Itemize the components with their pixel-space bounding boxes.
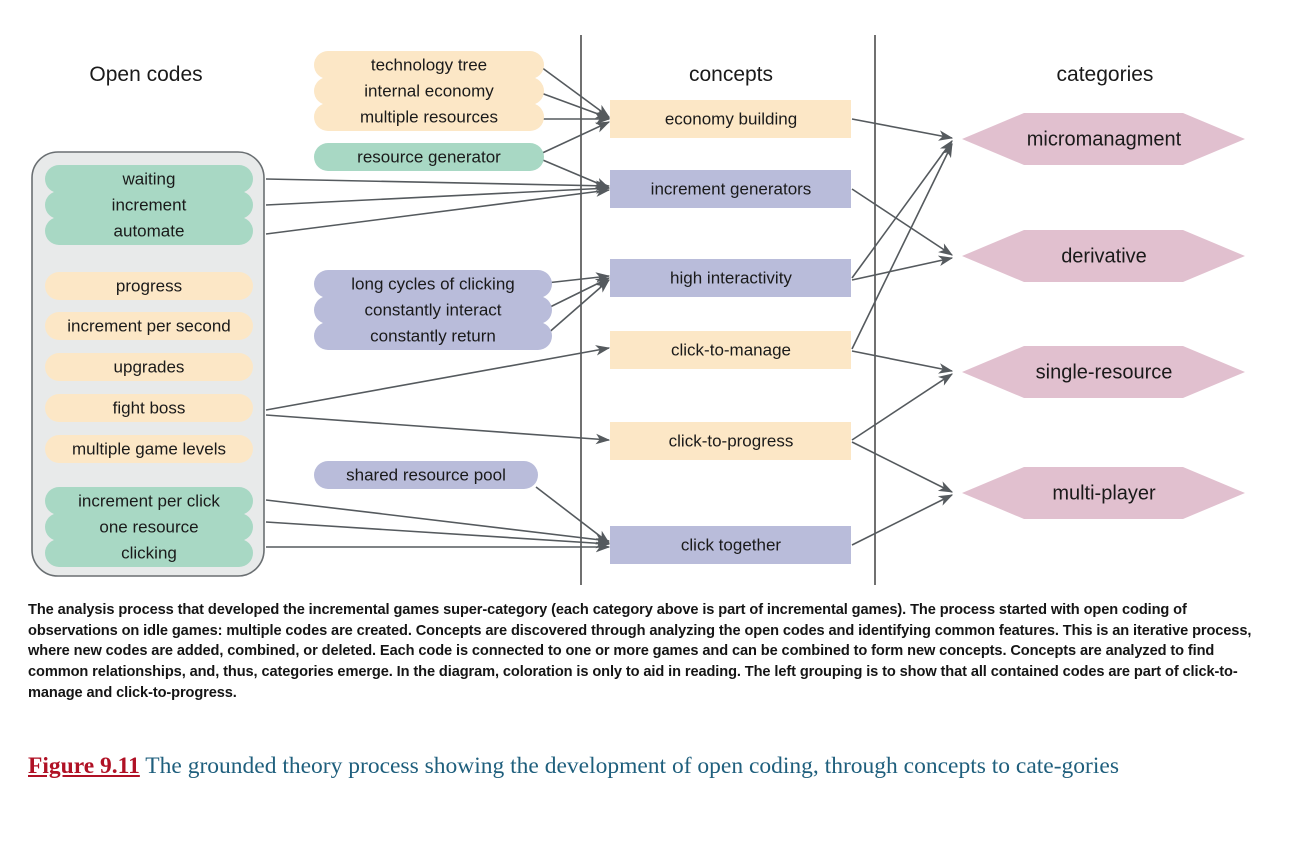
- category-node[interactable]: derivative: [962, 230, 1245, 282]
- category-node[interactable]: single-resource: [962, 346, 1245, 398]
- open-code-label: upgrades: [114, 357, 185, 376]
- open-code-label: constantly interact: [364, 300, 501, 319]
- open-code-pill[interactable]: long cycles of clicking: [314, 270, 552, 298]
- category-node[interactable]: micromanagment: [962, 113, 1245, 165]
- category-label: single-resource: [1036, 361, 1173, 383]
- heading-categories: categories: [1057, 63, 1154, 86]
- concept-node[interactable]: increment generators: [610, 170, 851, 208]
- figure-description-block: The analysis process that developed the …: [28, 600, 1276, 704]
- open-code-pill[interactable]: multiple resources: [314, 103, 544, 131]
- open-code-pill[interactable]: internal economy: [314, 77, 544, 105]
- open-code-label: progress: [116, 276, 182, 295]
- open-code-pill[interactable]: resource generator: [314, 143, 544, 171]
- edges-concepts-to-categories: [852, 119, 952, 545]
- concept-node[interactable]: click together: [610, 526, 851, 564]
- open-code-pill[interactable]: one resource: [45, 513, 253, 541]
- concept-label: click-to-manage: [671, 340, 791, 359]
- grounded-theory-diagram: Open codes concepts categories: [0, 0, 1302, 596]
- concept-node[interactable]: click-to-progress: [610, 422, 851, 460]
- open-code-pill[interactable]: shared resource pool: [314, 461, 538, 489]
- category-node[interactable]: multi-player: [962, 467, 1245, 519]
- open-code-pill[interactable]: clicking: [45, 539, 253, 567]
- open-code-label: waiting: [122, 169, 176, 188]
- open-code-pill[interactable]: multiple game levels: [45, 435, 253, 463]
- category-label: multi-player: [1052, 482, 1156, 504]
- open-code-label: increment per click: [78, 491, 220, 510]
- open-code-label: one resource: [99, 517, 198, 536]
- concept-label: economy building: [665, 109, 797, 128]
- concept-node[interactable]: economy building: [610, 100, 851, 138]
- concept-label: increment generators: [651, 179, 812, 198]
- category-label: micromanagment: [1027, 128, 1182, 150]
- category-label: derivative: [1061, 245, 1147, 267]
- open-code-label: long cycles of clicking: [351, 274, 514, 293]
- open-code-label: constantly return: [370, 326, 496, 345]
- open-code-label: internal economy: [364, 81, 494, 100]
- open-code-label: increment: [112, 195, 187, 214]
- open-code-pill[interactable]: upgrades: [45, 353, 253, 381]
- concept-label: click-to-progress: [669, 431, 794, 450]
- figure-page: Open codes concepts categories: [0, 0, 1302, 846]
- concept-node[interactable]: high interactivity: [610, 259, 851, 297]
- concept-label: high interactivity: [670, 268, 792, 287]
- open-code-label: automate: [114, 221, 185, 240]
- open-code-label: clicking: [121, 543, 177, 562]
- open-code-pill[interactable]: constantly return: [314, 322, 552, 350]
- figure-description-text: The analysis process that developed the …: [28, 600, 1276, 704]
- open-code-label: shared resource pool: [346, 465, 506, 484]
- open-code-label: multiple resources: [360, 107, 498, 126]
- concept-node[interactable]: click-to-manage: [610, 331, 851, 369]
- open-code-pill[interactable]: waiting: [45, 165, 253, 193]
- open-code-label: fight boss: [113, 398, 186, 417]
- heading-concepts: concepts: [689, 63, 773, 86]
- open-code-pill[interactable]: increment per second: [45, 312, 253, 340]
- open-code-pill[interactable]: fight boss: [45, 394, 253, 422]
- figure-caption: Figure 9.11 The grounded theory process …: [28, 751, 1283, 781]
- figure-number: Figure 9.11: [28, 753, 140, 779]
- open-code-pill[interactable]: constantly interact: [314, 296, 552, 324]
- open-code-label: multiple game levels: [72, 439, 226, 458]
- heading-open-codes: Open codes: [89, 63, 202, 86]
- open-code-label: technology tree: [371, 55, 487, 74]
- open-code-pill[interactable]: automate: [45, 217, 253, 245]
- concept-label: click together: [681, 535, 781, 554]
- open-code-pill[interactable]: progress: [45, 272, 253, 300]
- open-code-label: resource generator: [357, 147, 501, 166]
- open-code-label: increment per second: [67, 316, 230, 335]
- figure-caption-text: The grounded theory process showing the …: [140, 753, 1119, 779]
- open-code-pill[interactable]: increment per click: [45, 487, 253, 515]
- open-code-pill[interactable]: increment: [45, 191, 253, 219]
- open-code-pill[interactable]: technology tree: [314, 51, 544, 79]
